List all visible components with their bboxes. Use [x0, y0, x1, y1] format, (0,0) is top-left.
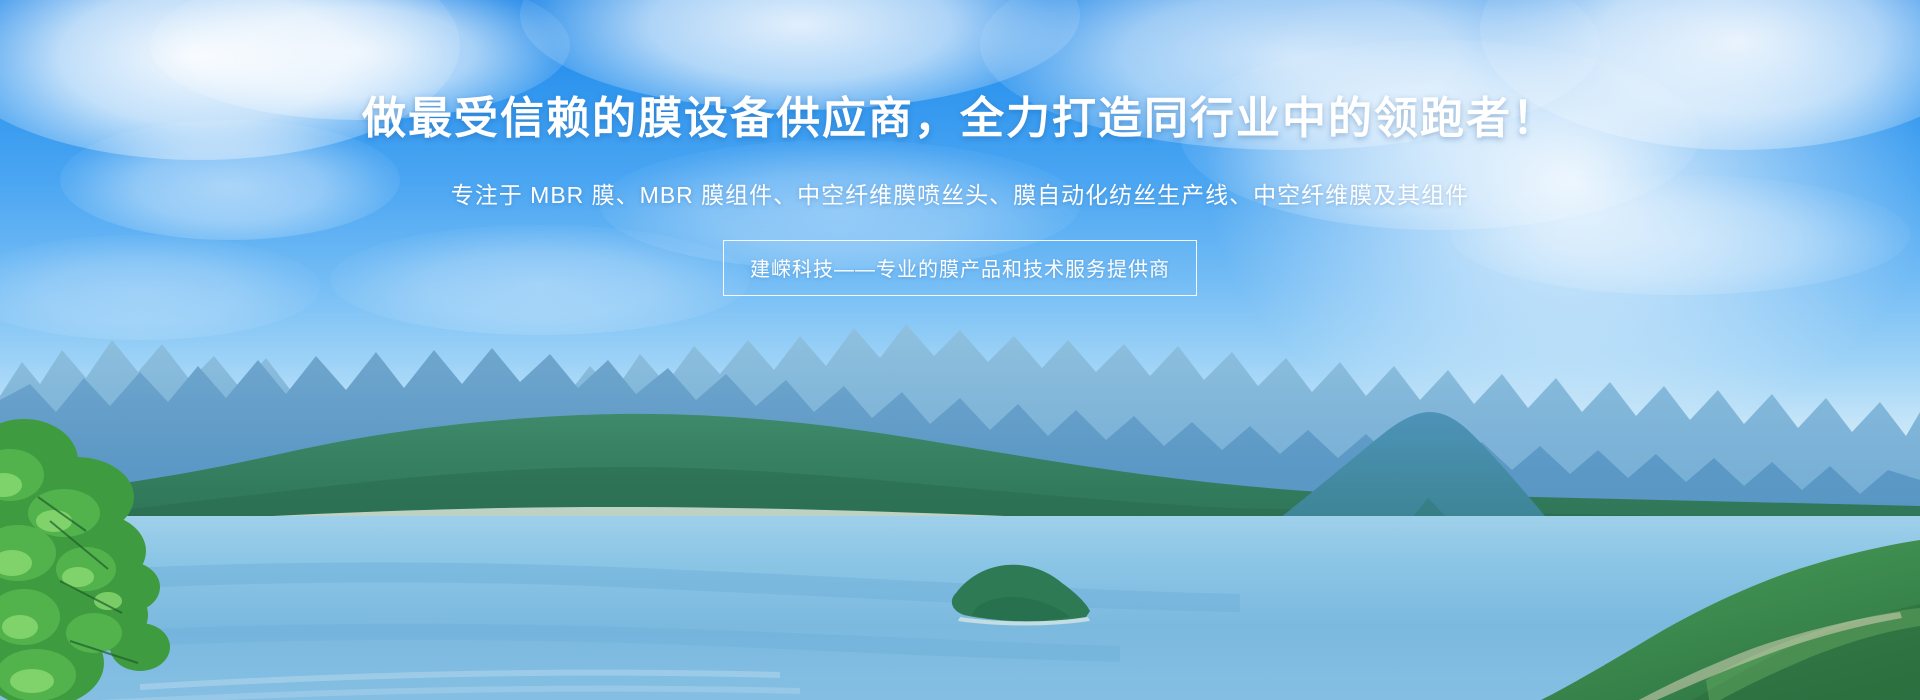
tagline-box: 建嵘科技——专业的膜产品和技术服务提供商	[723, 240, 1197, 296]
hero-banner: 做最受信赖的膜设备供应商，全力打造同行业中的领跑者！ 专注于 MBR 膜、MBR…	[0, 0, 1920, 700]
banner-subtitle: 专注于 MBR 膜、MBR 膜组件、中空纤维膜喷丝头、膜自动化纺丝生产线、中空纤…	[0, 176, 1920, 210]
banner-text-block: 做最受信赖的膜设备供应商，全力打造同行业中的领跑者！ 专注于 MBR 膜、MBR…	[0, 96, 1920, 296]
tagline-container: 建嵘科技——专业的膜产品和技术服务提供商	[0, 240, 1920, 296]
page-title: 做最受信赖的膜设备供应商，全力打造同行业中的领跑者！	[0, 96, 1920, 142]
foreground-tree	[0, 401, 310, 700]
